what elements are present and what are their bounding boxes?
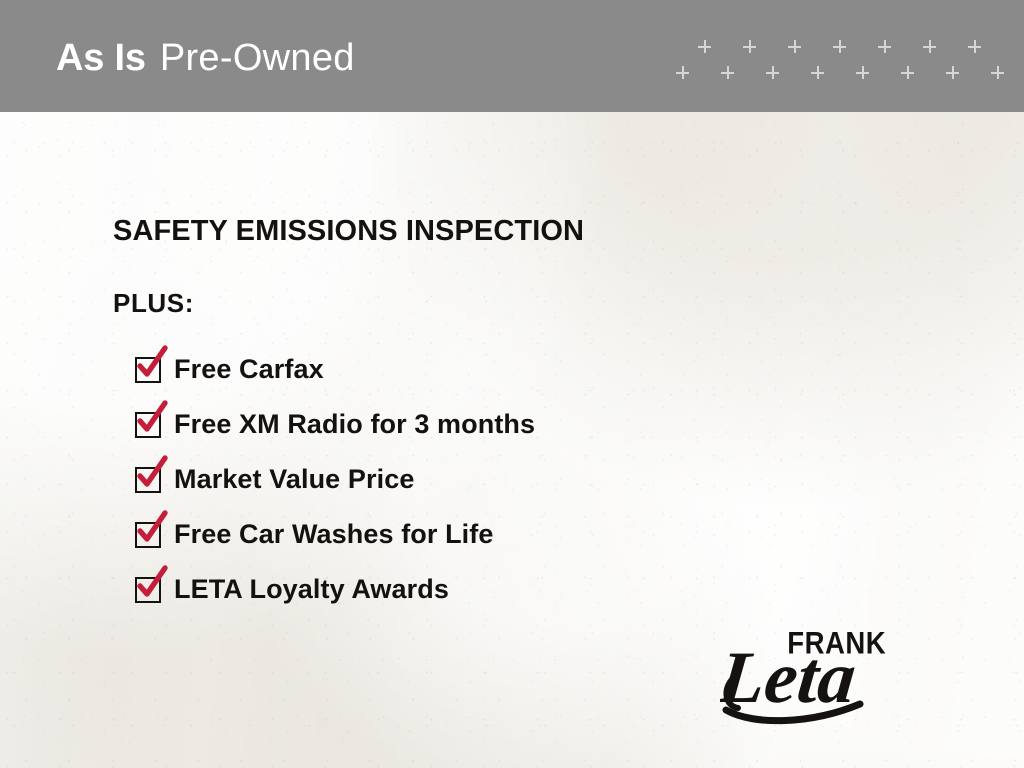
- benefits-check-list: Free CarfaxFree XM Radio for 3 monthsMar…: [135, 342, 535, 617]
- plus-mark-icon: [968, 40, 981, 53]
- plus-mark-icon: [878, 40, 891, 53]
- plus-decoration-field: [676, 40, 1006, 96]
- page-title-light: Pre-Owned: [160, 37, 355, 79]
- plus-mark-icon: [743, 40, 756, 53]
- list-item: Free Car Washes for Life: [135, 507, 535, 562]
- checkmark-icon: [134, 346, 168, 380]
- plus-mark-icon: [923, 40, 936, 53]
- checkbox[interactable]: [135, 577, 161, 603]
- plus-mark-icon: [811, 66, 824, 79]
- list-item: LETA Loyalty Awards: [135, 562, 535, 617]
- checkbox[interactable]: [135, 467, 161, 493]
- plus-mark-icon: [833, 40, 846, 53]
- plus-mark-icon: [676, 66, 689, 79]
- checkmark-icon: [134, 401, 168, 435]
- list-item-label: Free XM Radio for 3 months: [174, 409, 535, 440]
- plus-mark-icon: [991, 66, 1004, 79]
- list-item-label: Free Carfax: [174, 354, 324, 385]
- plus-mark-icon: [766, 66, 779, 79]
- plus-mark-icon: [856, 66, 869, 79]
- plus-mark-icon: [901, 66, 914, 79]
- list-item: Market Value Price: [135, 452, 535, 507]
- logo-leta-script: Leta: [720, 637, 860, 719]
- headline-text: SAFETY EMISSIONS INSPECTION: [113, 215, 584, 248]
- checkmark-icon: [134, 566, 168, 600]
- list-item: Free XM Radio for 3 months: [135, 397, 535, 452]
- page-title: As IsPre-Owned: [56, 36, 355, 80]
- checkmark-icon: [134, 511, 168, 545]
- checkbox[interactable]: [135, 412, 161, 438]
- plus-mark-icon: [698, 40, 711, 53]
- list-item: Free Carfax: [135, 342, 535, 397]
- list-item-label: LETA Loyalty Awards: [174, 574, 449, 605]
- checkbox[interactable]: [135, 522, 161, 548]
- slide-canvas: As IsPre-Owned SAFETY EMISSIONS INSPECTI…: [0, 0, 1024, 768]
- plus-mark-icon: [721, 66, 734, 79]
- plus-mark-icon: [788, 40, 801, 53]
- page-title-bold: As Is: [56, 37, 146, 79]
- checkbox[interactable]: [135, 357, 161, 383]
- header-band: As IsPre-Owned: [0, 0, 1024, 112]
- plus-label: PLUS:: [113, 288, 194, 319]
- frank-leta-logo: FRANK Leta: [720, 618, 920, 728]
- list-item-label: Free Car Washes for Life: [174, 519, 494, 550]
- list-item-label: Market Value Price: [174, 464, 414, 495]
- plus-mark-icon: [946, 66, 959, 79]
- checkmark-icon: [134, 456, 168, 490]
